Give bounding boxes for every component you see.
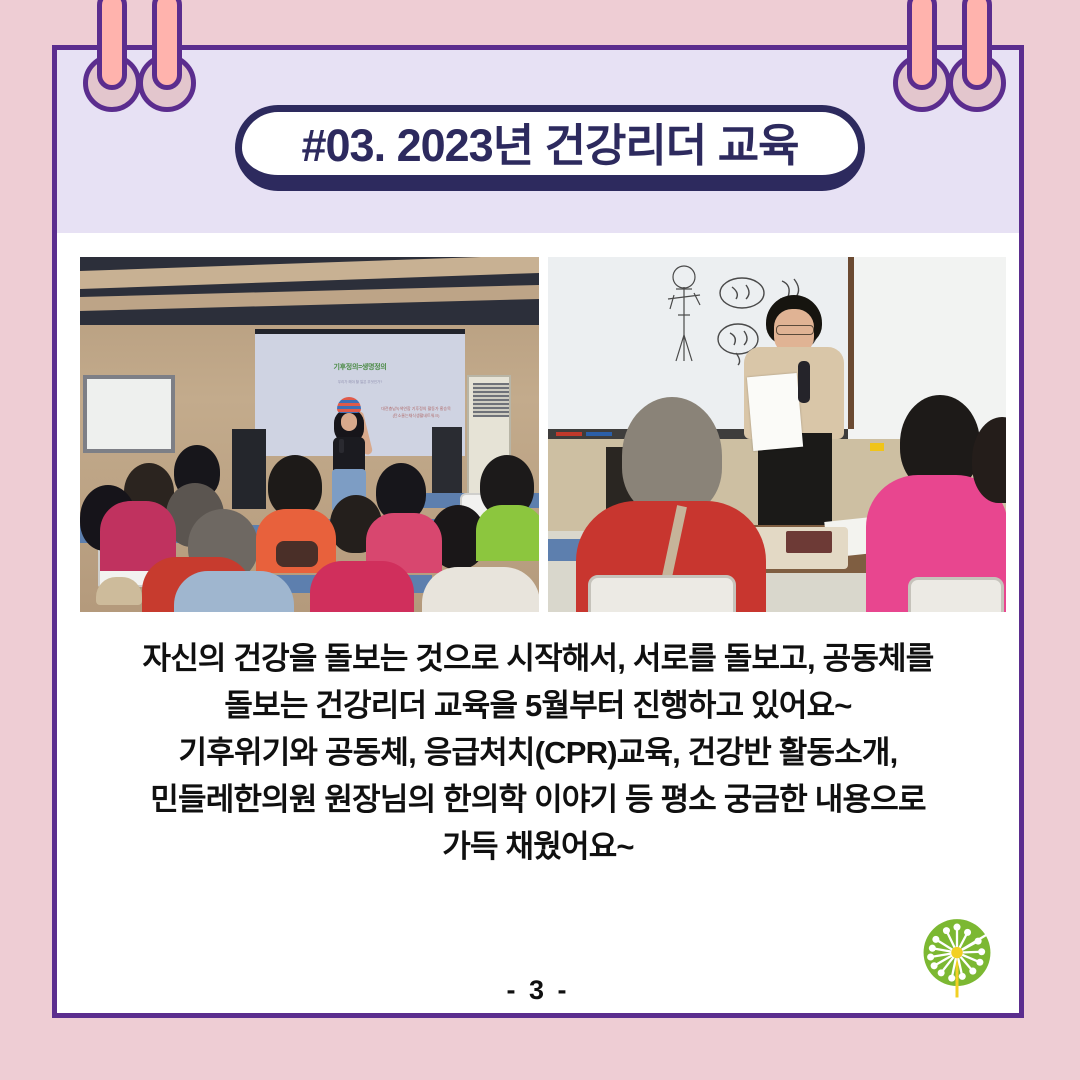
photo-row: 기후정의=생명정의 우리가 해야 할 일은 무엇인가? 대전충남녹색연합 기후정… <box>80 257 1006 612</box>
audience-hat <box>96 577 142 605</box>
ac-grille <box>473 383 509 417</box>
blue-marker <box>586 432 612 436</box>
audience-bag <box>276 541 318 567</box>
audience-shoulders <box>174 571 294 612</box>
title-pill: #03. 2023년 건강리더 교육 <box>235 105 865 191</box>
whiteboard-presenter-photo <box>548 257 1007 612</box>
chair-back <box>908 577 1004 612</box>
audience-head <box>622 397 722 515</box>
screen-subtitle-text: 우리가 해야 할 일은 무엇인가? <box>255 380 465 385</box>
glasses <box>776 325 814 335</box>
lecture-hall-photo: 기후정의=생명정의 우리가 해야 할 일은 무엇인가? 대전충남녹색연합 기후정… <box>80 257 539 612</box>
page-title: #03. 2023년 건강리더 교육 <box>302 109 799 174</box>
binder-clip <box>152 0 182 112</box>
whiteboard-drawing <box>660 265 708 375</box>
handout-papers <box>746 373 802 451</box>
yellow-note <box>870 443 884 451</box>
page-number: - 3 - <box>57 975 1019 1006</box>
whiteboard <box>83 375 175 453</box>
binder-clip <box>962 0 992 112</box>
body-line: 가득 채웠어요~ <box>57 823 1019 870</box>
audience-shoulders <box>310 561 414 612</box>
binder-clip <box>97 0 127 112</box>
microphone <box>339 439 344 453</box>
clip-pill <box>97 0 127 90</box>
chair-back <box>588 575 736 612</box>
audience-shoulders <box>476 505 539 561</box>
clip-pill <box>907 0 937 90</box>
poster-card: #03. 2023년 건강리더 교육 기후정의=생명정의 우리가 해야 할 일은… <box>52 45 1024 1018</box>
speaker-left <box>232 429 266 509</box>
red-marker <box>556 432 582 436</box>
screen-side-text: 대전충남녹색연합 기후정의 활동가 홍승목 (탄소줄는채식생활네트워크) <box>381 406 451 420</box>
notebook <box>786 531 832 553</box>
body-line: 자신의 건강을 돌보는 것으로 시작해서, 서로를 돌보고, 공동체를 <box>57 635 1019 682</box>
body-text: 자신의 건강을 돌보는 것으로 시작해서, 서로를 돌보고, 공동체를 돌보는 … <box>57 635 1019 871</box>
striped-hat <box>337 397 361 413</box>
body-line: 돌보는 건강리더 교육을 5월부터 진행하고 있어요~ <box>57 682 1019 729</box>
lecturer-figure <box>327 397 371 512</box>
face <box>341 413 357 431</box>
clip-pill <box>962 0 992 90</box>
binder-clip <box>907 0 937 112</box>
clip-pill <box>152 0 182 90</box>
screen-title-text: 기후정의=생명정의 <box>255 362 465 372</box>
body-line: 민들레한의원 원장님의 한의학 이야기 등 평소 궁금한 내용으로 <box>57 776 1019 823</box>
speaker-right <box>432 427 462 499</box>
dandelion-logo-icon <box>913 913 1001 1001</box>
body-line: 기후위기와 공동체, 응급처치(CPR)교육, 건강반 활동소개, <box>57 729 1019 776</box>
audience-shoulders <box>422 567 539 612</box>
audience-head <box>268 455 322 517</box>
microphone <box>798 361 810 403</box>
presenter-figure <box>736 295 852 535</box>
